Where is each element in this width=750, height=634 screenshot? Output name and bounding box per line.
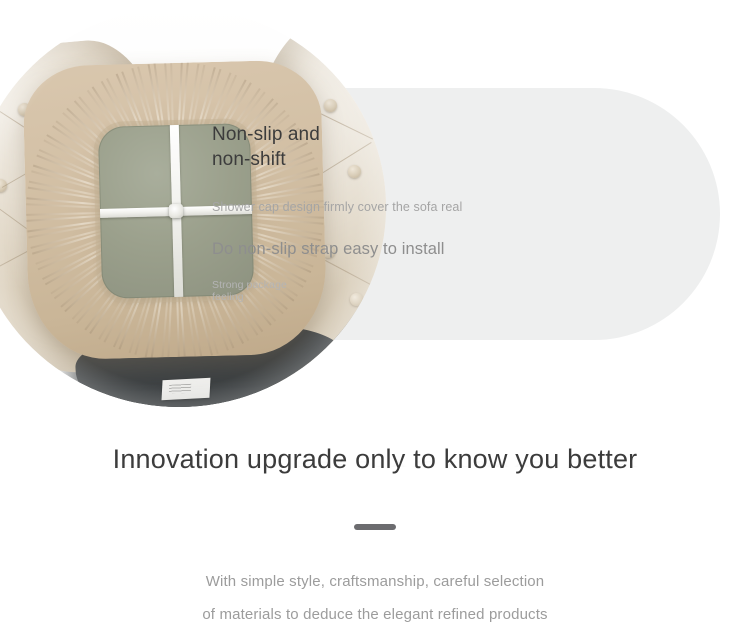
panel-feature-line: Do non-slip strap easy to install [212, 238, 502, 260]
tagline-line-1: With simple style, craftsmanship, carefu… [0, 565, 750, 598]
strap-center-knot [169, 204, 183, 218]
headline-block: Innovation upgrade only to know you bett… [0, 441, 750, 477]
product-care-tag [162, 378, 211, 401]
info-panel-content: Non-slip and non-shift Shower cap design… [212, 122, 502, 303]
tagline-block: With simple style, craftsmanship, carefu… [0, 565, 750, 631]
product-feature-banner: Non-slip and non-shift Shower cap design… [0, 0, 750, 634]
divider-dash [354, 524, 396, 530]
panel-title: Non-slip and non-shift [212, 122, 502, 172]
panel-subtitle: Shower cap design firmly cover the sofa … [212, 199, 502, 216]
headline: Innovation upgrade only to know you bett… [0, 441, 750, 477]
panel-note: Strong package feeling [212, 279, 502, 303]
tuft-button [324, 99, 337, 112]
tagline-line-2: of materials to deduce the elegant refin… [0, 598, 750, 631]
